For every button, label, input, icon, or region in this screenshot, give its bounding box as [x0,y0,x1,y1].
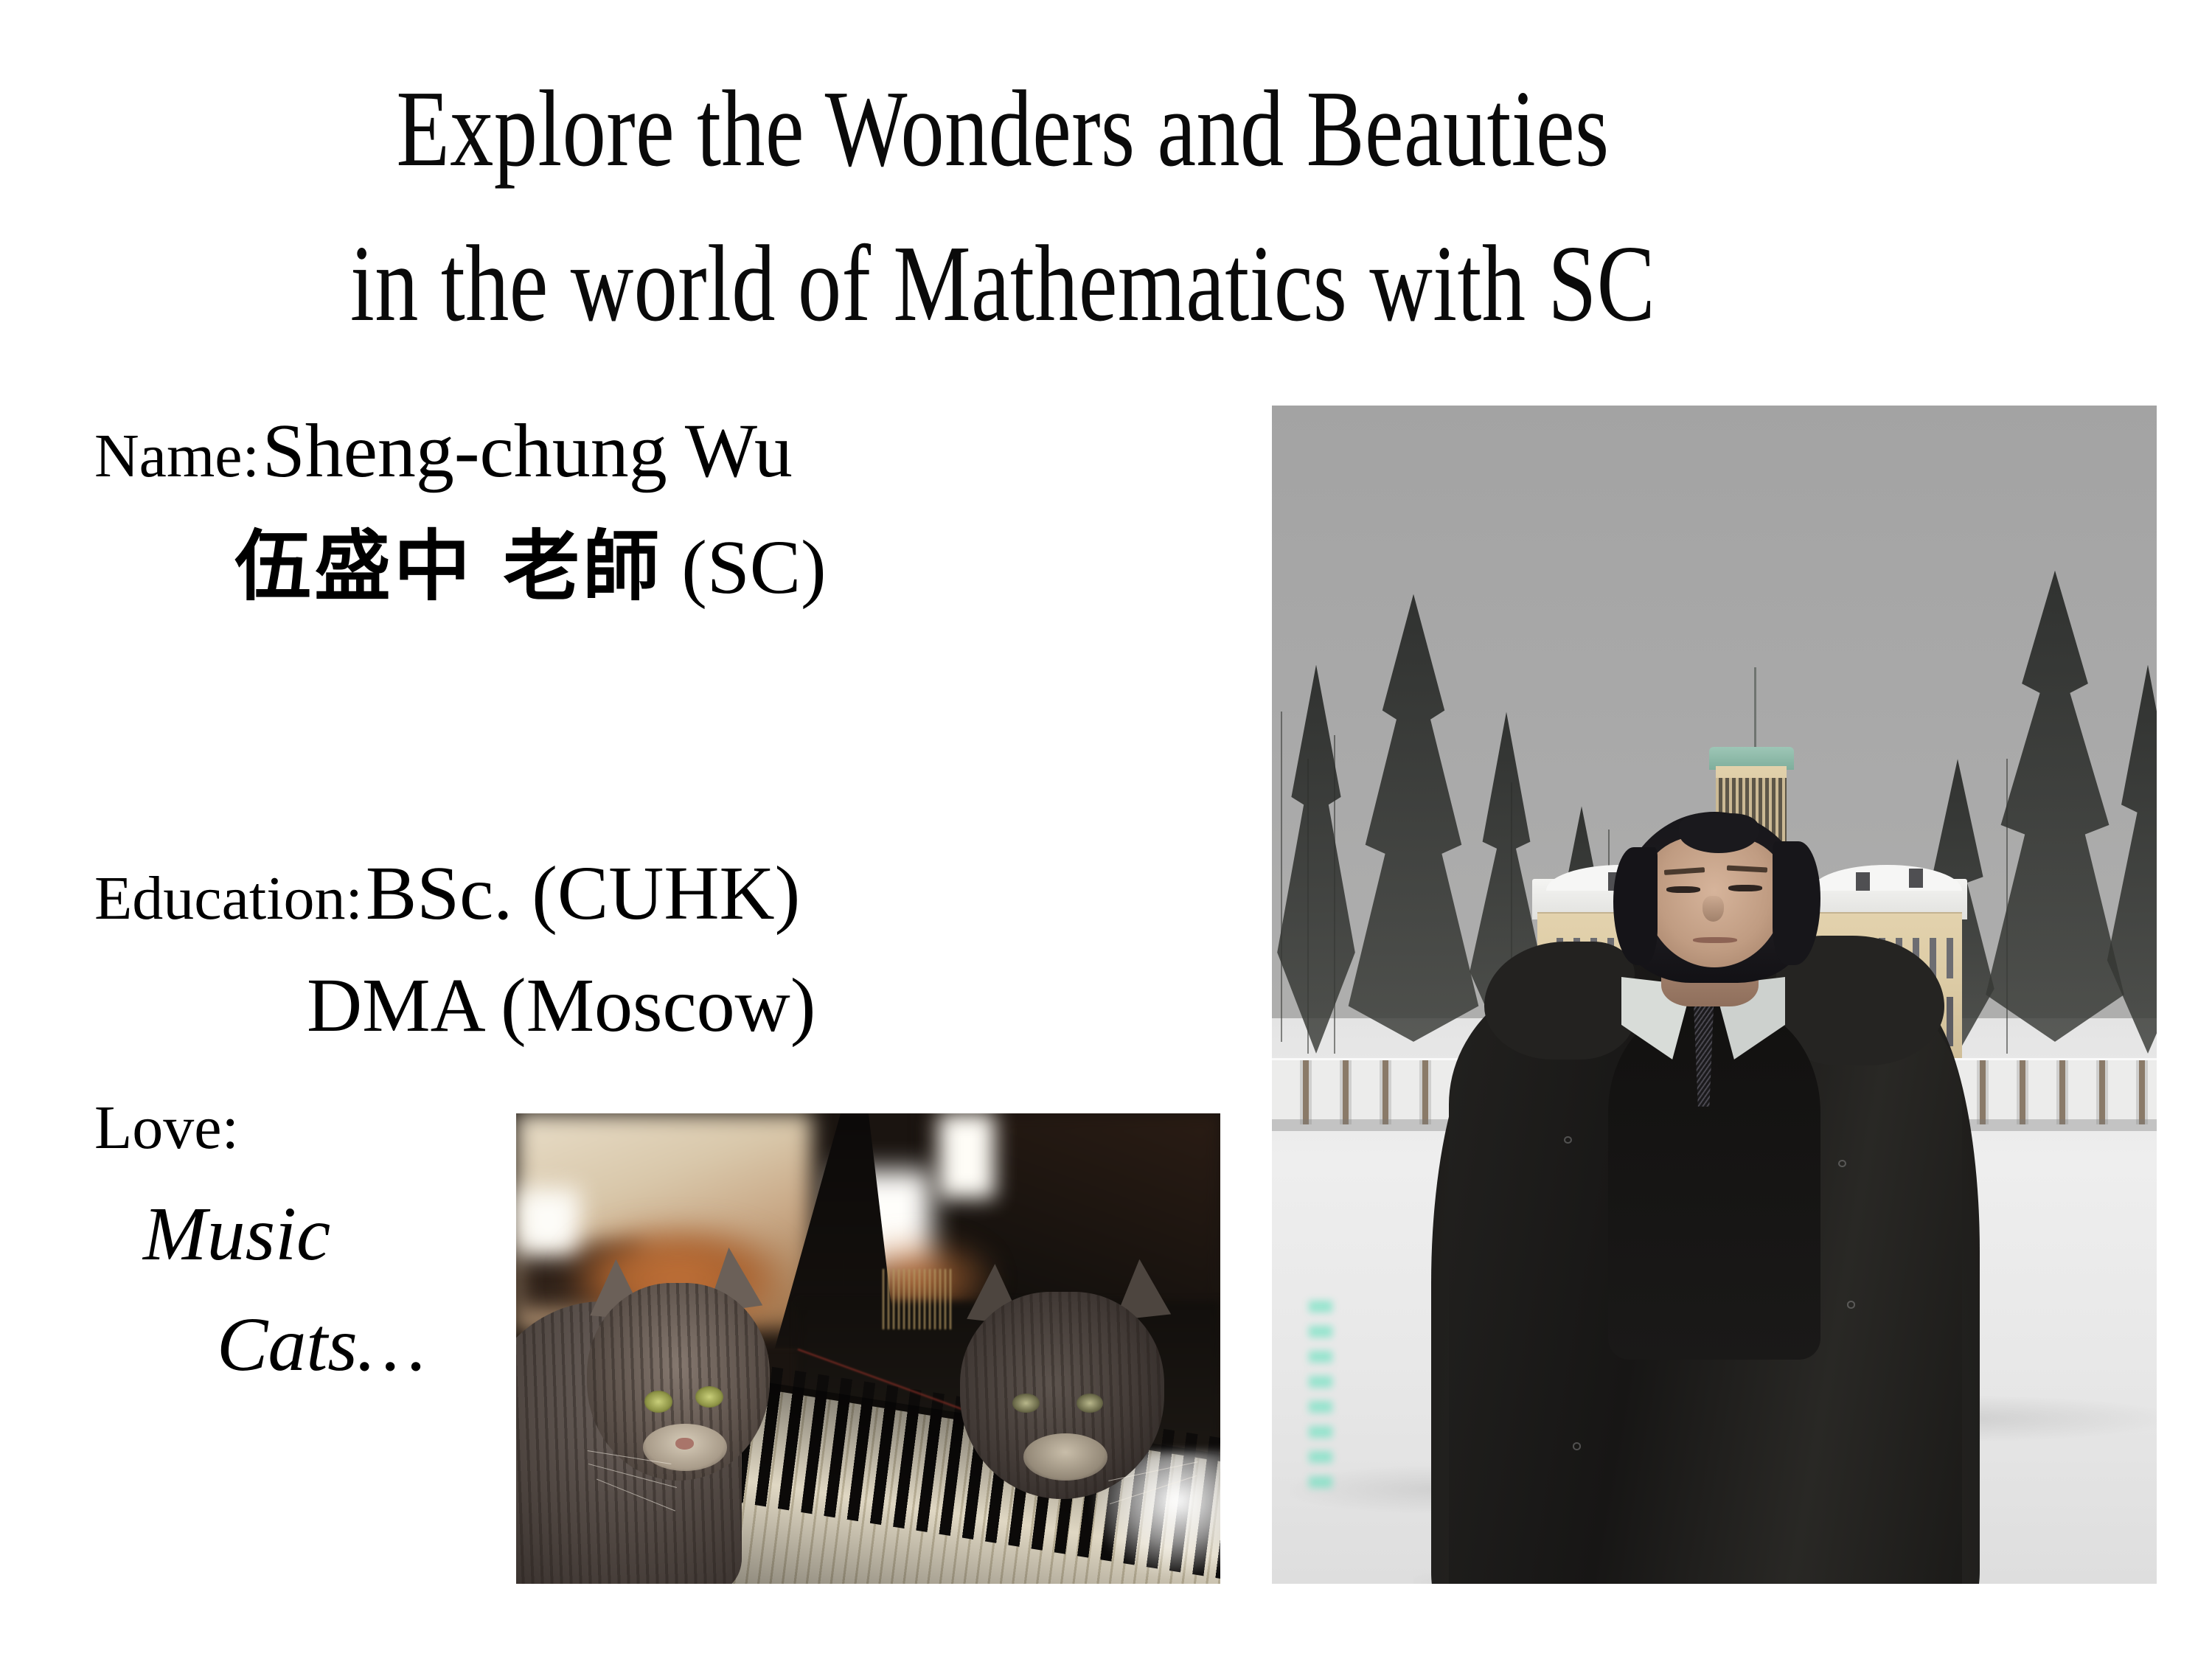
piano-strings [883,1269,953,1330]
coat-snap-4 [1573,1442,1581,1450]
cats-piano-photo [516,1113,1220,1584]
love-item-music-row: Music [143,1196,330,1273]
cat-right-muzzle [1023,1433,1108,1481]
cat-left-nose [675,1438,694,1449]
love-item-music: Music [143,1192,330,1276]
coat-snap-2 [1838,1160,1846,1167]
man-sweater [1608,1006,1820,1360]
slide-title: Explore the Wonders and Beauties in the … [0,52,2006,361]
man-eye-left [1666,886,1700,893]
name-cjk-suffix: (SC) [662,525,826,610]
love-item-cats-row: Cats… [217,1307,425,1383]
name-row: Name: Sheng-chung Wu [94,413,793,490]
palace-spire [1754,667,1756,752]
cat-right-eye-left [1012,1394,1039,1413]
name-value: Sheng-chung Wu [262,408,793,493]
man-hair-side-left [1613,847,1658,965]
coat-snap-3 [1847,1301,1855,1308]
man-nose [1703,896,1724,922]
photo-watermark [1309,1301,1332,1501]
palace-chimney-3 [1909,869,1923,888]
coat-snap-1 [1564,1136,1572,1144]
name-cjk-value: 伍盛中 老師 [234,521,662,611]
man-hair-fringe [1679,813,1759,853]
photo-background-window-left [516,1189,580,1254]
slide-canvas: Explore the Wonders and Beauties in the … [0,0,2212,1659]
palace-chimney-2 [1856,872,1870,891]
bare-tree-trunk-1 [1281,712,1282,1041]
education-label: Education: [94,864,363,933]
title-line-1: Explore the Wonders and Beauties [201,52,1805,206]
photo-background-window-top [939,1113,995,1198]
portrait-snow-photo [1272,406,2157,1584]
education-value-dma: DMA (Moscow) [307,963,815,1048]
name-label: Name: [94,422,260,490]
man-mouth [1693,937,1737,943]
love-row: Love: [94,1097,239,1159]
name-cjk-row: 伍盛中 老師 (SC) [234,528,827,606]
love-label: Love: [94,1093,239,1162]
love-item-cats: Cats… [217,1302,425,1387]
education-value-bsc: BSc. (CUHK) [366,851,800,936]
education-row-secondary: DMA (Moscow) [307,967,815,1044]
cat-left-eye-right [695,1386,723,1408]
cat-left-eye-left [644,1391,672,1412]
man-eye-right [1728,885,1762,891]
title-line-2: in the world of Mathematics with SC [201,206,1805,361]
education-row: Education: BSc. (CUHK) [94,855,800,932]
